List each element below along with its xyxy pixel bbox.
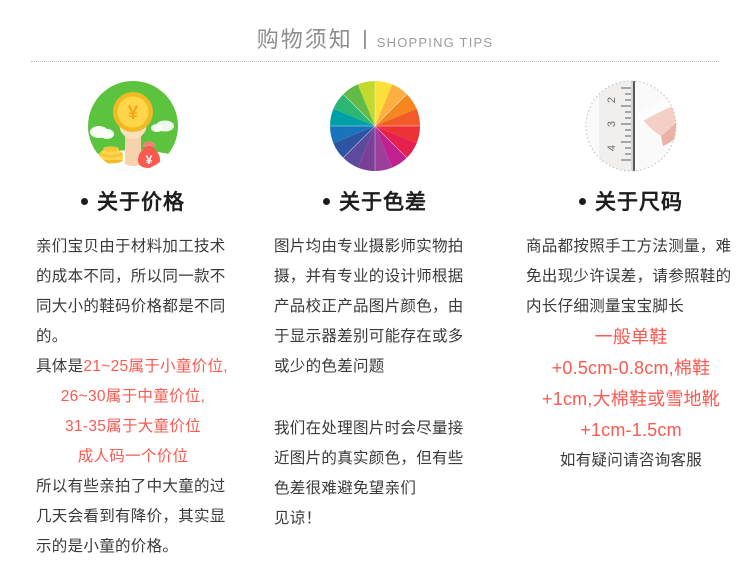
tip-column-price: ¥ ¥ [0, 80, 250, 562]
price-detail-red-2: 26~30属于中童价位, [36, 382, 230, 412]
page-title-en: SHOPPING TIPS [377, 35, 494, 50]
shopping-tips-page: 购物须知 SHOPPING TIPS [0, 0, 750, 586]
tips-columns: ¥ ¥ [0, 80, 750, 562]
color-paragraph-1: 图片均由专业摄影师实物拍摄，并有专业的设计师根据产品校正产品图片颜色，由于显示器… [274, 232, 476, 382]
color-paragraph-2: 我们在处理图片时会尽量接近图片的真实颜色，但有些色差很难避免望亲们 [274, 414, 476, 504]
bullet-icon [323, 198, 330, 205]
ruler-measure-icon: 2 3 4 [585, 80, 677, 172]
bullet-icon [81, 198, 88, 205]
price-paragraph-2: 所以有些亲拍了中大童的过几天会看到有降价，其实显示的是小童的价格。 [36, 472, 230, 562]
price-detail-red-3: 31-35属于大童价位 [36, 412, 230, 442]
size-body: 商品都按照手工方法测量，难免出现少许误差，请参照鞋的内长仔细测量宝宝脚长 一般单… [526, 232, 736, 476]
color-body: 图片均由专业摄影师实物拍摄，并有专业的设计师根据产品校正产品图片颜色，由于显示器… [274, 232, 476, 534]
page-header: 购物须知 SHOPPING TIPS [0, 0, 750, 54]
svg-text:¥: ¥ [146, 153, 153, 167]
column-title-size-text: 关于尺码 [595, 191, 683, 214]
bullet-icon [579, 198, 586, 205]
price-detail-lead: 具体是 [36, 358, 83, 375]
svg-text:¥: ¥ [128, 103, 139, 124]
color-paragraph-2-tail: 见谅！ [274, 504, 476, 534]
svg-text:3: 3 [606, 121, 618, 127]
header-divider [31, 61, 719, 63]
size-red-line-2: +0.5cm-0.8cm,棉鞋 [526, 353, 736, 384]
price-detail-red-4: 成人码一个价位 [36, 442, 230, 472]
size-red-block: 一般单鞋 +0.5cm-0.8cm,棉鞋 +1cm,大棉鞋或雪地靴 +1cm-1… [526, 322, 736, 446]
price-coin-icon: ¥ ¥ [87, 80, 179, 172]
tip-column-size: 2 3 4 关于尺码 商品都按照手工方 [500, 80, 750, 562]
tip-column-color: 关于色差 图片均由专业摄影师实物拍摄，并有专业的设计师根据产品校正产品图片颜色，… [250, 80, 500, 562]
page-title-cn: 购物须知 [257, 22, 353, 54]
size-footer-note: 如有疑问请咨询客服 [526, 446, 736, 476]
color-body-spacer [274, 382, 476, 414]
price-detail-line-1: 具体是21~25属于小童价位, [36, 352, 230, 382]
header-separator [364, 30, 366, 49]
header-inner: 购物须知 SHOPPING TIPS [257, 22, 494, 54]
column-title-price: 关于价格 [81, 186, 185, 216]
column-title-color-text: 关于色差 [339, 191, 427, 214]
price-paragraph-1: 亲们宝贝由于材料加工技术的成本不同，所以同一款不同大小的鞋码价格都是不同的。 [36, 232, 230, 352]
size-paragraph-1: 商品都按照手工方法测量，难免出现少许误差，请参照鞋的内长仔细测量宝宝脚长 [526, 232, 736, 322]
svg-text:2: 2 [606, 97, 618, 103]
size-red-line-3: +1cm,大棉鞋或雪地靴 [526, 384, 736, 415]
svg-text:4: 4 [606, 145, 618, 151]
size-red-line-4: +1cm-1.5cm [526, 415, 736, 446]
color-wheel-icon [329, 80, 421, 172]
size-red-line-1: 一般单鞋 [526, 322, 736, 353]
column-title-size: 关于尺码 [579, 186, 683, 216]
price-detail-red-1: 21~25属于小童价位, [83, 358, 227, 375]
column-title-color: 关于色差 [323, 186, 427, 216]
column-title-price-text: 关于价格 [97, 191, 185, 214]
price-body: 亲们宝贝由于材料加工技术的成本不同，所以同一款不同大小的鞋码价格都是不同的。 具… [36, 232, 230, 562]
